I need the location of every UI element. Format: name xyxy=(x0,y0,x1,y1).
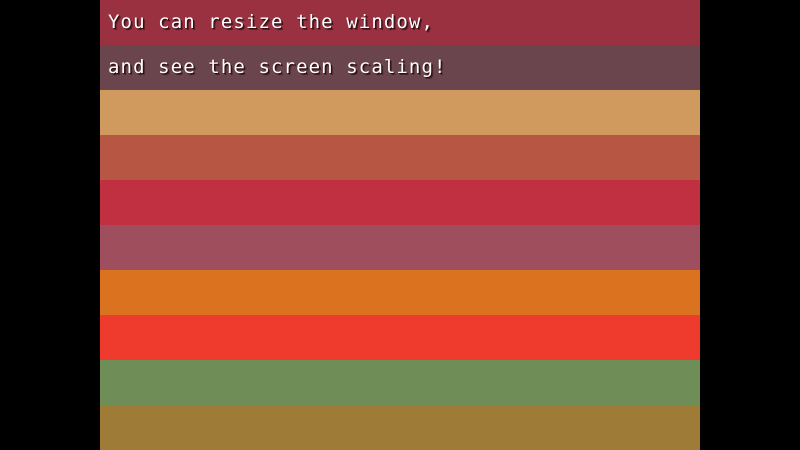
scaled-viewport xyxy=(100,0,700,450)
stripe-dark-red xyxy=(100,0,700,45)
stripe-brick xyxy=(100,135,700,180)
app-window[interactable]: You can resize the window, and see the s… xyxy=(0,0,800,450)
stripe-green xyxy=(100,360,700,405)
stripe-olive-gold xyxy=(100,405,700,450)
stripe-tan xyxy=(100,90,700,135)
stripe-bright-red xyxy=(100,315,700,360)
stripe-muted-plum xyxy=(100,45,700,90)
letterbox-bar-left xyxy=(0,0,100,450)
letterbox-bar-right xyxy=(700,0,800,450)
stripe-mauve xyxy=(100,225,700,270)
stripe-crimson xyxy=(100,180,700,225)
stripe-orange xyxy=(100,270,700,315)
